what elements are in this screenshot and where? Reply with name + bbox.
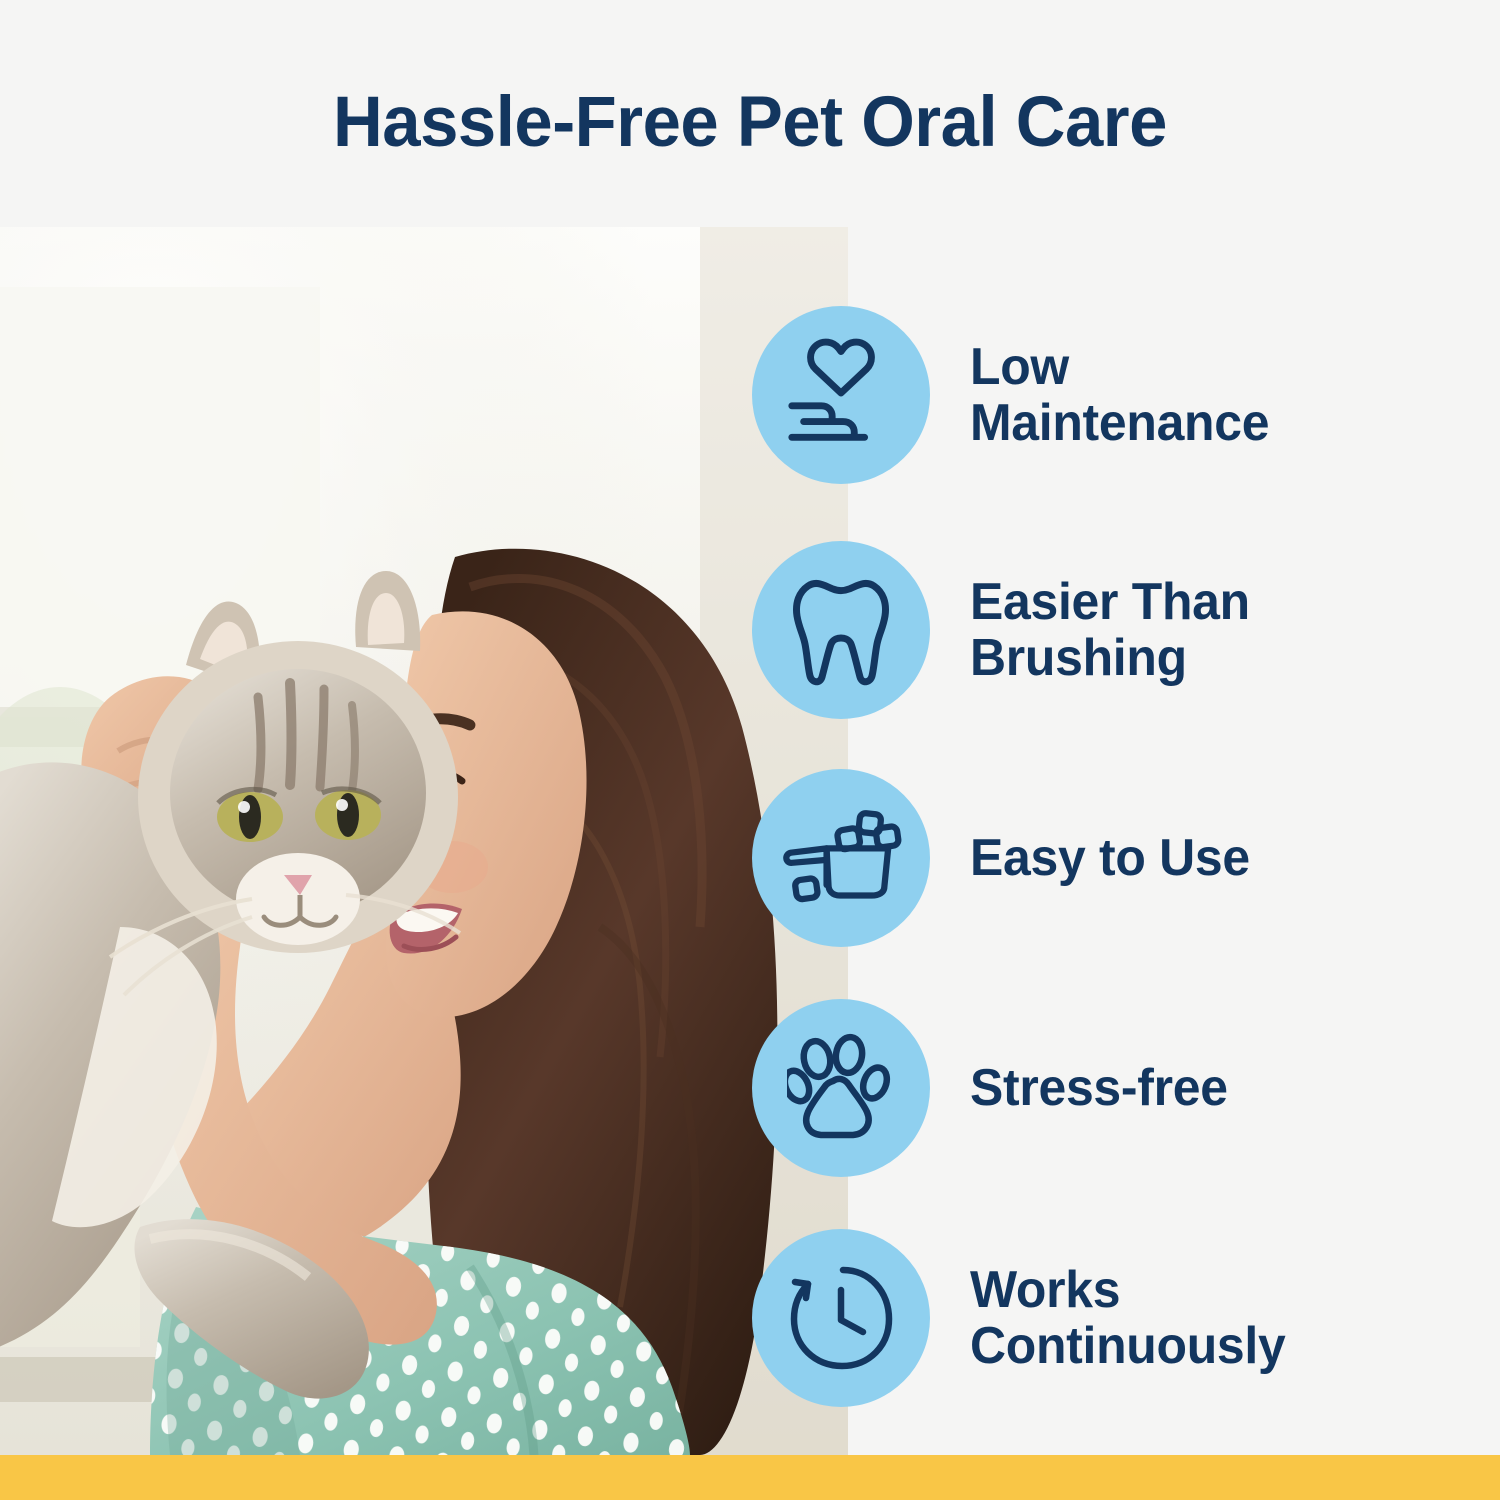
feature-item-easier-than-brushing: Easier Than Brushing [752, 541, 1262, 719]
feature-label: Easier Than Brushing [970, 574, 1250, 686]
feature-item-low-maintenance: Low Maintenance [752, 306, 1282, 484]
feature-label: Low Maintenance [970, 339, 1269, 451]
feature-item-easy-to-use: Easy to Use [752, 769, 1262, 947]
paw-print-icon [752, 999, 930, 1177]
bottom-accent-bar [0, 1455, 1500, 1500]
tooth-icon [752, 541, 930, 719]
feature-item-stress-free: Stress-free [752, 999, 1238, 1177]
feature-label: Stress-free [970, 1060, 1228, 1116]
scoop-powder-icon [752, 769, 930, 947]
feature-label: Easy to Use [970, 830, 1250, 886]
feature-label: Works Continuously [970, 1262, 1285, 1374]
product-feature-graphic: Hassle-Free Pet Oral Care [0, 0, 1500, 1500]
hand-holding-heart-icon [752, 306, 930, 484]
feature-item-works-continuously: Works Continuously [752, 1229, 1299, 1407]
feature-list: Low Maintenance Easier Than Brushing [0, 0, 1500, 1500]
clock-refresh-icon [752, 1229, 930, 1407]
